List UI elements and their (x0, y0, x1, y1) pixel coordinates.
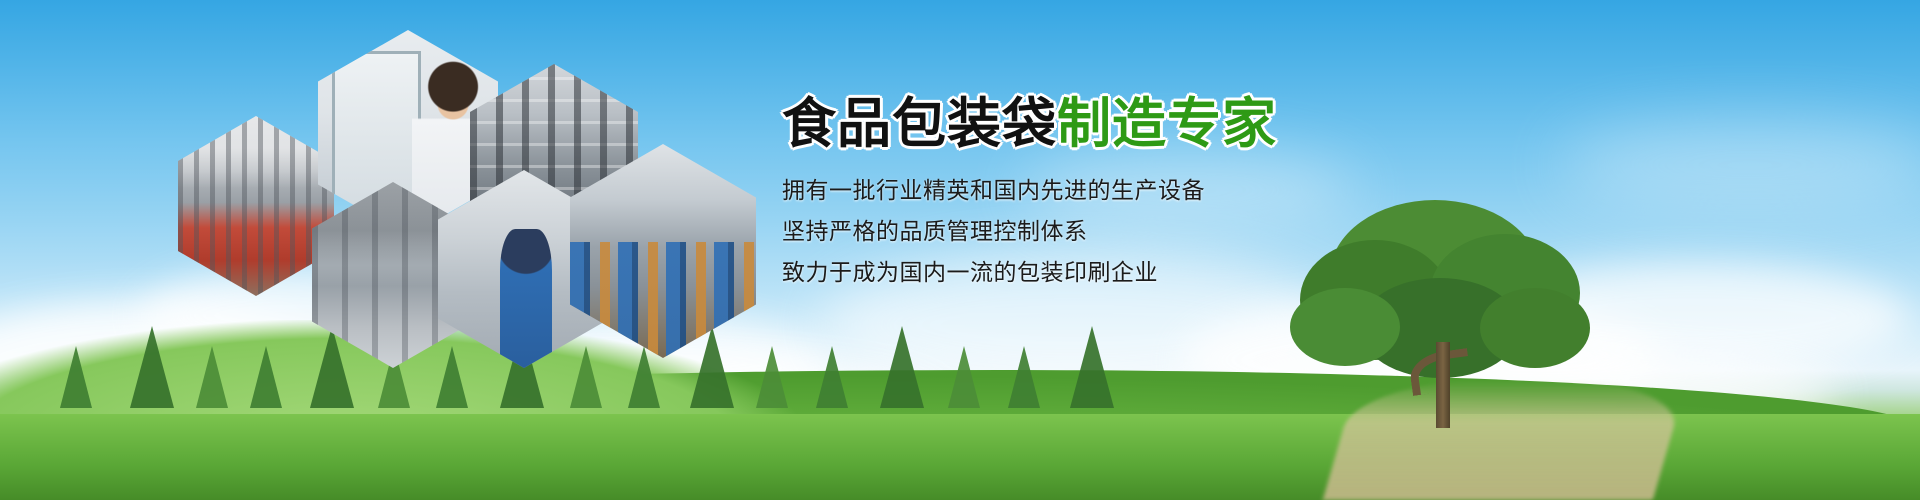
banner-subline: 坚持严格的品质管理控制体系 (782, 220, 1422, 243)
banner-subline: 拥有一批行业精英和国内先进的生产设备 (782, 179, 1422, 202)
hero-banner: 食品包装袋制造专家 拥有一批行业精英和国内先进的生产设备 坚持严格的品质管理控制… (0, 0, 1920, 500)
hex-photo-cluster (170, 18, 790, 368)
banner-text-block: 食品包装袋制造专家 拥有一批行业精英和国内先进的生产设备 坚持严格的品质管理控制… (782, 96, 1422, 302)
headline-primary-text: 食品包装袋 (782, 94, 1057, 154)
hex-photo-warehouse-red-floor (178, 116, 334, 296)
banner-subline-list: 拥有一批行业精英和国内先进的生产设备 坚持严格的品质管理控制体系 致力于成为国内… (782, 179, 1422, 284)
cloud-decoration (1560, 120, 1920, 210)
banner-subline: 致力于成为国内一流的包装印刷企业 (782, 261, 1422, 284)
banner-headline: 食品包装袋制造专家 (782, 96, 1422, 153)
headline-accent-text: 制造专家 (1057, 94, 1277, 154)
